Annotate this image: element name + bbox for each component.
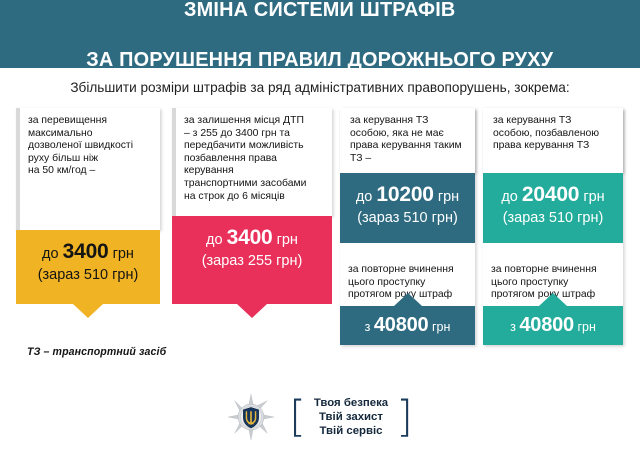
fine-column-driving-while-disqualified: за керування ТЗ особою, позбавленою прав… [483,108,623,345]
repeat-fine-line: з 40800 грн [487,315,619,337]
offence-description-card: за керування ТЗ особою, яка не має права… [340,108,475,173]
pointer-down-icon [237,304,267,318]
abbreviation-footnote: ТЗ – транспортний засіб [27,346,166,358]
offence-description-text: за залишення місця ДТП – з 255 до 3400 г… [184,115,326,203]
offence-description-text: за перевищення максимально дозволеної шв… [28,115,154,178]
fine-amount-value: 20400 [522,183,579,206]
repeat-fine-line: з 40800 грн [344,315,471,337]
fine-amount-value: 3400 [63,240,109,263]
fine-amount-prefix: до [42,246,59,262]
subheading: Збільшити розміри штрафів за ряд адмініс… [0,79,640,97]
fine-amount-unit: грн [113,246,134,262]
fines-columns: за перевищення максимально дозволеної шв… [0,108,640,370]
fine-current-amount: (зараз 510 грн) [487,208,619,228]
fine-amount-prefix: до [501,189,518,205]
fine-amount-line: до 20400 грн [487,184,619,208]
repeat-fine-block: з 40800 грн [483,306,623,345]
slogan-line-1: Твоя безпека [314,396,388,410]
offence-description-card: за керування ТЗ особою, позбавленою прав… [483,108,623,173]
fine-amount-block: до 3400 грн (зараз 510 грн) [16,230,160,304]
fine-current-amount: (зараз 255 грн) [176,251,328,271]
fine-current-amount: (зараз 510 грн) [20,265,156,285]
repeat-fine-value: 40800 [374,314,429,336]
fine-amount-unit: грн [438,189,459,205]
fine-amount-prefix: до [206,232,223,248]
page-title-line-1: ЗМІНА СИСТЕМИ ШТРАФІВ [86,0,553,22]
repeat-fine-unit: грн [577,320,595,334]
fine-amount-line: до 3400 грн [176,227,328,251]
bracket-left-icon: [ [289,396,306,439]
pointer-down-icon [73,304,103,318]
bracket-right-icon: ] [396,396,413,439]
fine-amount-block: до 20400 грн (зараз 510 грн) [483,173,623,243]
offence-description-card: за залишення місця ДТП – з 255 до 3400 г… [172,108,332,216]
slogan: [ Твоя безпека Твій захист Твій сервіс ] [289,396,413,439]
repeat-fine-prefix: з [365,320,371,334]
repeat-fine-value: 40800 [519,314,574,336]
offence-description-card: за перевищення максимально дозволеної шв… [16,108,160,230]
fine-amount-block: до 3400 грн (зараз 255 грн) [172,216,332,304]
fine-column-speeding: за перевищення максимально дозволеної шв… [16,108,160,304]
offence-description-text: за керування ТЗ особою, яка не має права… [350,115,469,165]
fine-amount-line: до 10200 грн [344,184,471,208]
repeat-fine-prefix: з [510,320,516,334]
fine-amount-line: до 3400 грн [20,241,156,265]
fine-current-amount: (зараз 510 грн) [344,208,471,228]
offence-description-text: за керування ТЗ особою, позбавленою прав… [493,115,617,153]
slogan-line-3: Твій сервіс [314,424,388,438]
slogan-lines: Твоя безпека Твій захист Твій сервіс [314,396,388,438]
fine-amount-unit: грн [583,189,604,205]
fine-amount-value: 10200 [376,183,433,206]
repeat-fine-block: з 40800 грн [340,306,475,345]
fine-amount-unit: грн [277,232,298,248]
page-title-line-2: ЗА ПОРУШЕННЯ ПРАВИЛ ДОРОЖНЬОГО РУХУ [86,47,553,72]
fine-amount-prefix: до [356,189,373,205]
slogan-line-2: Твій захист [314,410,388,424]
fine-column-driving-without-licence: за керування ТЗ особою, яка не має права… [340,108,475,345]
fine-amount-value: 3400 [227,226,273,249]
repeat-fine-unit: грн [432,320,450,334]
header-banner: ЗМІНА СИСТЕМИ ШТРАФІВ ЗА ПОРУШЕННЯ ПРАВИ… [0,0,640,68]
footer: [ Твоя безпека Твій захист Твій сервіс ] [0,388,640,446]
fine-amount-block: до 10200 грн (зараз 510 грн) [340,173,475,243]
pointer-up-icon [539,293,567,306]
police-emblem-icon [227,393,275,441]
pointer-up-icon [394,293,422,306]
fine-column-leaving-accident-scene: за залишення місця ДТП – з 255 до 3400 г… [172,108,332,304]
